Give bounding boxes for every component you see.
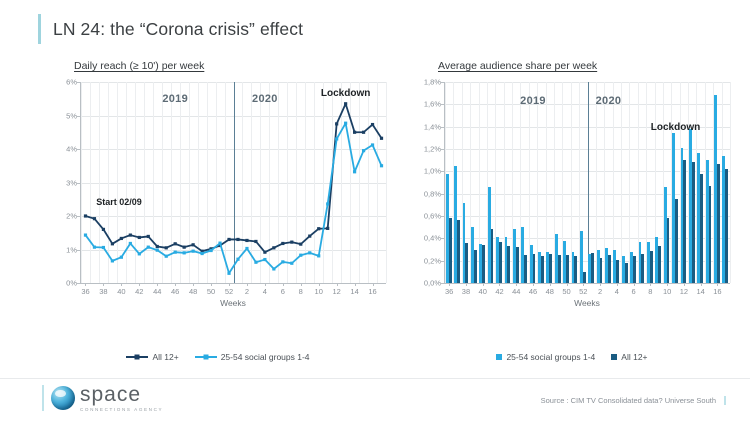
y-axis-tick-label: 6% — [66, 78, 77, 87]
legend-audience-share: 25-54 social groups 1-4 All 12+ — [412, 352, 732, 362]
x-axis-tick-label: 50 — [207, 287, 215, 296]
legend-label-social-left: 25-54 social groups 1-4 — [221, 352, 310, 362]
x-axis-tick-label: 52 — [225, 287, 233, 296]
y-axis-tick-label: 0,2% — [424, 256, 441, 265]
data-point-marker — [326, 202, 329, 205]
data-point-marker — [201, 252, 204, 255]
plot-area-daily-reach: 0%1%2%3%4%5%6%36384042444648505224681012… — [80, 82, 386, 284]
bar — [700, 174, 703, 283]
bar — [465, 243, 468, 283]
data-point-marker — [326, 227, 329, 230]
x-axis-tick-label: 42 — [495, 287, 503, 296]
chart-annotation-2020: 2020 — [596, 95, 622, 107]
slide-header: LN 24: the “Corona crisis” effect — [38, 14, 303, 44]
x-axis-tick-label: 10 — [663, 287, 671, 296]
y-axis-tick-label: 0,4% — [424, 234, 441, 243]
bar — [541, 256, 544, 283]
data-point-marker — [102, 228, 105, 231]
data-point-marker — [335, 122, 338, 125]
x-axis-tick-mark — [550, 283, 551, 286]
bar — [616, 260, 619, 283]
y-axis-tick-label: 1,4% — [424, 122, 441, 131]
legend-item-all12-left[interactable]: All 12+ — [126, 352, 178, 362]
x-axis-tick-mark — [85, 283, 86, 286]
legend-daily-reach: All 12+ 25-54 social groups 1-4 — [48, 352, 388, 362]
bar — [499, 242, 502, 283]
x-axis-tick-mark — [466, 283, 467, 286]
x-axis-tick-label: 8 — [299, 287, 303, 296]
y-axis-tick-label: 5% — [66, 111, 77, 120]
bar — [717, 164, 720, 283]
chart-annotation-2020: 2020 — [252, 93, 278, 105]
data-point-marker — [245, 247, 248, 250]
line-series-all-12- — [85, 104, 381, 252]
legend-swatch-social-right — [496, 354, 502, 360]
x-axis-tick-label: 38 — [99, 287, 107, 296]
x-axis-tick-mark — [319, 283, 320, 286]
bar — [583, 272, 586, 283]
data-point-marker — [299, 254, 302, 257]
bar — [566, 255, 569, 283]
data-point-marker — [254, 261, 257, 264]
globe-icon — [51, 386, 75, 410]
bar — [533, 254, 536, 283]
page-title: LN 24: the “Corona crisis” effect — [53, 19, 303, 40]
x-axis-tick-mark — [650, 283, 651, 286]
x-axis-tick-label: 36 — [81, 287, 89, 296]
data-point-marker — [308, 251, 311, 254]
data-point-marker — [236, 258, 239, 261]
bar — [675, 199, 678, 283]
x-axis-tick-mark — [337, 283, 338, 286]
y-axis-tick-label: 0% — [66, 279, 77, 288]
bar — [558, 255, 561, 283]
bar — [600, 258, 603, 283]
data-point-marker — [174, 242, 177, 245]
brand-logo: space CONNECTIONS AGENCY — [42, 384, 163, 413]
bar — [574, 256, 577, 283]
data-point-marker — [236, 238, 239, 241]
legend-item-all12-right[interactable]: All 12+ — [611, 352, 647, 362]
data-point-marker — [290, 262, 293, 265]
y-axis-tick-mark — [441, 283, 445, 284]
data-point-marker — [165, 246, 168, 249]
bar — [641, 254, 644, 283]
data-point-marker — [84, 214, 87, 217]
x-axis-tick-mark — [193, 283, 194, 286]
x-axis-tick-mark — [717, 283, 718, 286]
x-axis-tick-mark — [634, 283, 635, 286]
data-point-marker — [111, 242, 114, 245]
data-point-marker — [290, 241, 293, 244]
data-point-marker — [272, 267, 275, 270]
x-axis-tick-mark — [516, 283, 517, 286]
y-axis-tick-label: 2% — [66, 212, 77, 221]
bar — [658, 246, 661, 283]
bar — [591, 253, 594, 283]
data-point-marker — [84, 233, 87, 236]
bar — [549, 254, 552, 283]
x-axis-tick-mark — [583, 283, 584, 286]
source-note: Source : CIM TV Consolidated data? Unive… — [541, 396, 726, 405]
bar — [507, 246, 510, 283]
data-point-marker — [317, 254, 320, 257]
logo-name: space — [80, 384, 163, 405]
footer-divider — [0, 378, 750, 379]
legend-swatch-all12-right — [611, 354, 617, 360]
y-axis-tick-label: 1,2% — [424, 145, 441, 154]
x-axis-tick-label: 38 — [462, 287, 470, 296]
legend-item-social-right[interactable]: 25-54 social groups 1-4 — [496, 352, 595, 362]
x-axis-tick-label: 2 — [245, 287, 249, 296]
y-axis-tick-label: 1,6% — [424, 100, 441, 109]
data-point-marker — [183, 251, 186, 254]
legend-swatch-social-left — [195, 356, 217, 358]
data-point-marker — [245, 239, 248, 242]
chart-annotation-2019: 2019 — [520, 95, 546, 107]
data-point-marker — [227, 238, 230, 241]
bar — [608, 255, 611, 283]
data-point-marker — [218, 242, 221, 245]
x-axis-tick-label: 48 — [546, 287, 554, 296]
x-axis-tick-mark — [684, 283, 685, 286]
data-point-marker — [344, 122, 347, 125]
data-point-marker — [353, 131, 356, 134]
data-point-marker — [371, 143, 374, 146]
x-axis-tick-label: 42 — [135, 287, 143, 296]
x-axis-tick-mark — [247, 283, 248, 286]
data-point-marker — [138, 236, 141, 239]
data-point-marker — [129, 233, 132, 236]
data-point-marker — [272, 246, 275, 249]
x-axis-tick-label: 6 — [281, 287, 285, 296]
y-axis-tick-label: 0,0% — [424, 279, 441, 288]
chart-panel-daily-reach: Daily reach (≥ 10') per week 0%1%2%3%4%5… — [48, 60, 388, 310]
data-point-marker — [254, 240, 257, 243]
data-point-marker — [263, 251, 266, 254]
data-point-marker — [174, 251, 177, 254]
chart-annotation-2019: 2019 — [162, 93, 188, 105]
y-axis-tick-label: 4% — [66, 145, 77, 154]
x-axis-tick-mark — [617, 283, 618, 286]
data-point-marker — [165, 255, 168, 258]
y-axis-tick-label: 3% — [66, 178, 77, 187]
x-axis-tick-label: 44 — [512, 287, 520, 296]
bar — [667, 218, 670, 283]
bar — [516, 247, 519, 283]
x-axis-tick-mark — [701, 283, 702, 286]
data-point-marker — [120, 237, 123, 240]
x-axis-tick-mark — [301, 283, 302, 286]
data-point-marker — [281, 260, 284, 263]
gridline-vertical — [386, 82, 387, 283]
x-axis-tick-label: 6 — [632, 287, 636, 296]
x-axis-tick-mark — [139, 283, 140, 286]
x-axis-tick-mark — [229, 283, 230, 286]
x-axis-tick-label: 50 — [562, 287, 570, 296]
data-point-marker — [102, 246, 105, 249]
logo-tagline: CONNECTIONS AGENCY — [80, 408, 163, 413]
chart-annotation-start-02-09: Start 02/09 — [96, 197, 142, 207]
data-point-marker — [111, 259, 114, 262]
data-point-marker — [299, 243, 302, 246]
x-axis-tick-mark — [533, 283, 534, 286]
data-point-marker — [353, 170, 356, 173]
x-axis-tick-mark — [600, 283, 601, 286]
x-axis-tick-label: 16 — [713, 287, 721, 296]
line-series-group — [81, 82, 386, 283]
data-point-marker — [129, 242, 132, 245]
bar — [633, 256, 636, 283]
x-axis-tick-mark — [265, 283, 266, 286]
y-axis-tick-label: 1% — [66, 245, 77, 254]
x-axis-title-right: Weeks — [444, 298, 730, 308]
data-point-marker — [344, 102, 347, 105]
x-axis-tick-label: 48 — [189, 287, 197, 296]
data-point-marker — [138, 252, 141, 255]
data-point-marker — [371, 123, 374, 126]
legend-label-social-right: 25-54 social groups 1-4 — [506, 352, 595, 362]
data-point-marker — [192, 243, 195, 246]
x-axis-tick-label: 46 — [529, 287, 537, 296]
y-axis-tick-label: 0,6% — [424, 212, 441, 221]
title-accent-bar — [38, 14, 41, 44]
x-axis-tick-mark — [373, 283, 374, 286]
bar — [482, 245, 485, 283]
bar — [524, 255, 527, 283]
bar — [683, 160, 686, 283]
x-axis-tick-label: 2 — [598, 287, 602, 296]
x-axis-tick-mark — [175, 283, 176, 286]
x-axis-title-left: Weeks — [80, 298, 386, 308]
data-point-marker — [147, 235, 150, 238]
bar — [692, 162, 695, 283]
data-point-marker — [335, 137, 338, 140]
x-axis-tick-label: 36 — [445, 287, 453, 296]
legend-label-all12-left: All 12+ — [152, 352, 178, 362]
bar — [625, 263, 628, 283]
x-axis-tick-mark — [567, 283, 568, 286]
bar — [709, 186, 712, 283]
chart-title-daily-reach: Daily reach (≥ 10') per week — [74, 60, 388, 72]
data-point-marker — [156, 245, 159, 248]
data-point-marker — [156, 249, 159, 252]
data-point-marker — [308, 235, 311, 238]
x-axis-tick-label: 46 — [171, 287, 179, 296]
chart-panel-audience-share: Average audience share per week 0,0%0,2%… — [412, 60, 732, 310]
y-axis-tick-mark — [77, 283, 81, 284]
bar — [650, 251, 653, 283]
data-point-marker — [183, 246, 186, 249]
bar — [491, 229, 494, 283]
bar — [457, 220, 460, 283]
x-axis-tick-mark — [483, 283, 484, 286]
x-axis-tick-label: 4 — [615, 287, 619, 296]
plot-area-audience-share: 0,0%0,2%0,4%0,6%0,8%1,0%1,2%1,4%1,6%1,8%… — [444, 82, 730, 284]
x-axis-tick-mark — [355, 283, 356, 286]
data-point-marker — [281, 242, 284, 245]
x-axis-tick-mark — [121, 283, 122, 286]
bar — [474, 250, 477, 284]
data-point-marker — [93, 246, 96, 249]
data-point-marker — [209, 249, 212, 252]
chart-annotation-lockdown: Lockdown — [651, 122, 700, 133]
data-point-marker — [120, 256, 123, 259]
data-point-marker — [380, 164, 383, 167]
x-axis-tick-mark — [103, 283, 104, 286]
data-point-marker — [380, 137, 383, 140]
y-axis-tick-label: 1,0% — [424, 167, 441, 176]
gridline-vertical — [621, 82, 622, 283]
x-axis-tick-mark — [449, 283, 450, 286]
x-axis-tick-label: 52 — [579, 287, 587, 296]
y-axis-tick-label: 0,8% — [424, 189, 441, 198]
x-axis-tick-mark — [499, 283, 500, 286]
data-point-marker — [227, 272, 230, 275]
x-axis-tick-mark — [157, 283, 158, 286]
chart-annotation-lockdown: Lockdown — [321, 88, 370, 99]
x-axis-tick-mark — [667, 283, 668, 286]
x-axis-tick-label: 16 — [368, 287, 376, 296]
chart-title-audience-share: Average audience share per week — [438, 60, 732, 72]
bar — [449, 218, 452, 283]
x-axis-tick-label: 14 — [350, 287, 358, 296]
data-point-marker — [263, 258, 266, 261]
y-axis-tick-label: 1,8% — [424, 78, 441, 87]
x-axis-tick-label: 10 — [315, 287, 323, 296]
data-point-marker — [362, 131, 365, 134]
bar — [725, 169, 728, 283]
logo-accent-bar — [42, 385, 44, 411]
x-axis-tick-label: 8 — [648, 287, 652, 296]
gridline-vertical — [730, 82, 731, 283]
data-point-marker — [192, 250, 195, 253]
x-axis-tick-label: 14 — [696, 287, 704, 296]
legend-label-all12-right: All 12+ — [621, 352, 647, 362]
x-axis-tick-label: 12 — [332, 287, 340, 296]
legend-swatch-all12-left — [126, 356, 148, 358]
data-point-marker — [317, 227, 320, 230]
x-axis-tick-mark — [211, 283, 212, 286]
x-axis-tick-label: 12 — [680, 287, 688, 296]
legend-item-social-left[interactable]: 25-54 social groups 1-4 — [195, 352, 310, 362]
slide-root: LN 24: the “Corona crisis” effect Daily … — [0, 0, 750, 422]
x-axis-tick-label: 4 — [263, 287, 267, 296]
data-point-marker — [147, 246, 150, 249]
x-axis-tick-label: 44 — [153, 287, 161, 296]
x-axis-tick-label: 40 — [117, 287, 125, 296]
x-axis-tick-label: 40 — [479, 287, 487, 296]
data-point-marker — [362, 149, 365, 152]
x-axis-tick-mark — [283, 283, 284, 286]
data-point-marker — [93, 217, 96, 220]
year-divider-line — [588, 82, 589, 283]
